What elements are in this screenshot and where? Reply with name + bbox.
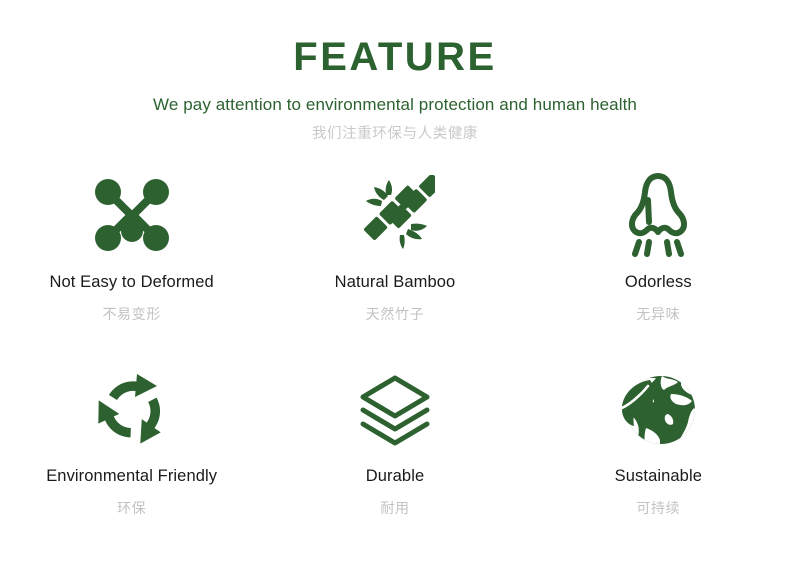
feature-item-odorless: Odorless 无异味 bbox=[527, 163, 790, 359]
page-title: FEATURE bbox=[0, 36, 790, 79]
feature-label-english: Environmental Friendly bbox=[46, 467, 217, 487]
feature-label-english: Not Easy to Deformed bbox=[50, 273, 214, 293]
feature-item-durable: Durable 耐用 bbox=[263, 359, 526, 555]
nose-icon bbox=[623, 163, 693, 267]
section-header: FEATURE We pay attention to environmenta… bbox=[0, 0, 790, 143]
feature-label-english: Natural Bamboo bbox=[335, 273, 456, 293]
subtitle-english: We pay attention to environmental protec… bbox=[0, 95, 790, 115]
subtitle-chinese: 我们注重环保与人类健康 bbox=[0, 126, 790, 143]
molecule-lattice-icon bbox=[91, 163, 173, 267]
feature-label-chinese: 耐用 bbox=[380, 500, 409, 517]
feature-item-not-easy-to-deformed: Not Easy to Deformed 不易变形 bbox=[0, 163, 263, 359]
feature-label-english: Sustainable bbox=[615, 467, 702, 487]
feature-item-natural-bamboo: Natural Bamboo 天然竹子 bbox=[263, 163, 526, 359]
feature-label-chinese: 环保 bbox=[117, 500, 146, 517]
feature-label-chinese: 天然竹子 bbox=[366, 306, 424, 323]
feature-label-chinese: 无异味 bbox=[636, 306, 680, 323]
bamboo-icon bbox=[355, 163, 435, 267]
feature-label-english: Durable bbox=[366, 467, 424, 487]
feature-label-chinese: 不易变形 bbox=[102, 306, 160, 323]
feature-item-sustainable: Sustainable 可持续 bbox=[527, 359, 790, 555]
feature-label-english: Odorless bbox=[625, 273, 692, 293]
layers-stack-icon bbox=[355, 359, 435, 461]
feature-section: FEATURE We pay attention to environmenta… bbox=[0, 0, 790, 576]
feature-item-environmental-friendly: Environmental Friendly 环保 bbox=[0, 359, 263, 555]
feature-label-chinese: 可持续 bbox=[636, 500, 680, 517]
feature-grid: Not Easy to Deformed 不易变形 bbox=[0, 163, 790, 555]
globe-leaf-icon bbox=[616, 359, 700, 461]
recycle-icon bbox=[89, 359, 175, 461]
